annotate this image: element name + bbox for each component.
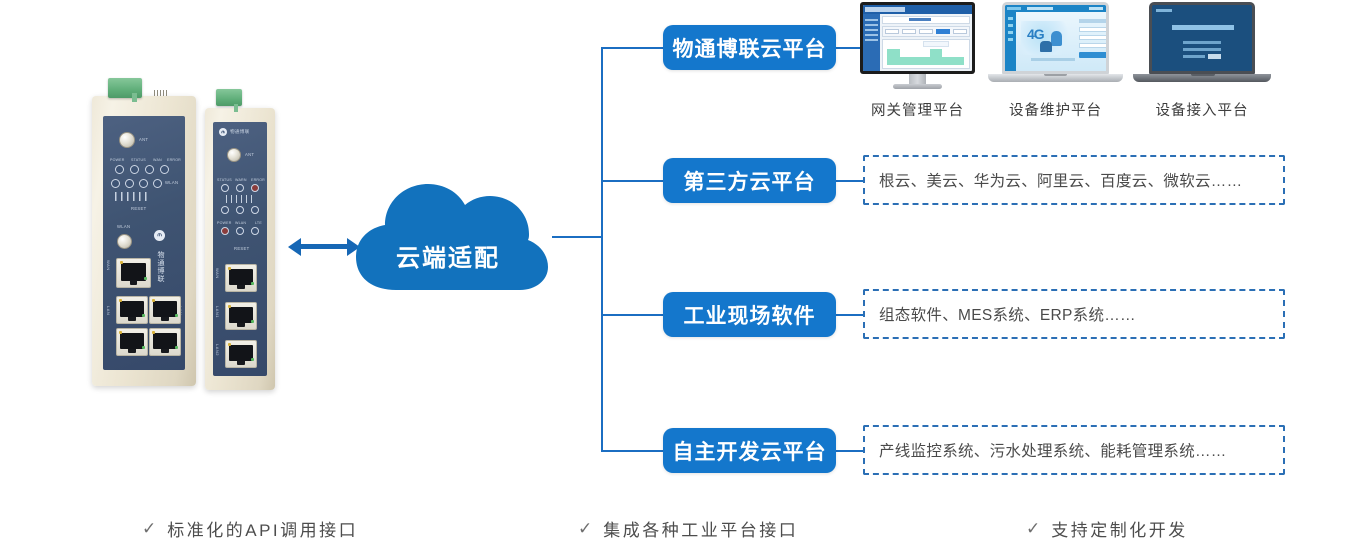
led-label-power: POWER [110, 158, 125, 162]
device-front-panel-small: ⫙ 物通博联 ANT STATUS WARN ERROR POWER WLAN … [213, 122, 267, 376]
port-label-lan-left: LAN [106, 306, 111, 346]
din-clip [154, 90, 168, 96]
line-branch-1 [601, 47, 664, 49]
line-branch-2 [601, 180, 664, 182]
rj45-port-lan2 [149, 296, 181, 324]
footer-item-3: ✓ 支持定制化开发 [1026, 516, 1188, 541]
rj45-port-lan3 [116, 328, 148, 356]
check-icon: ✓ [578, 520, 592, 537]
green-terminal-block-small [216, 89, 242, 106]
signal-bars-icon-small [226, 195, 252, 203]
laptop-screen-silver: 4G [1005, 5, 1106, 71]
check-icon: ✓ [1026, 520, 1040, 537]
laptop-screen-dark [1152, 5, 1252, 71]
led-label-status-small: STATUS [217, 178, 232, 182]
platform-mockup-device-maintenance: 4G [988, 2, 1123, 92]
monitor-neck [909, 74, 926, 84]
led-sig-c [251, 206, 259, 214]
monitor-base [893, 84, 942, 89]
led-label-wan: WAN [153, 158, 162, 162]
vlan-label: WLAN [117, 224, 130, 229]
wlan-antenna-connector-icon [117, 234, 132, 249]
led-error-small [251, 184, 259, 192]
rj45-port-wan-small [225, 264, 257, 292]
cloud-label: 云端适配 [396, 238, 500, 273]
cloud-shape-icon [352, 172, 552, 294]
port-label-lan2-small: LAN2 [215, 344, 220, 370]
line-hub-to-trunk [552, 236, 603, 238]
bidirectional-arrow-icon [288, 236, 360, 258]
led-warn-small [236, 184, 244, 192]
port-label-lan1-small: LAN1 [215, 306, 220, 332]
rj45-port-lan1-small [225, 302, 257, 330]
gateway-device-large: ANT POWER STATUS WAN ERROR WLAN RESET WL… [92, 96, 196, 386]
reset-label: RESET [131, 206, 146, 211]
footer-label-1: 标准化的API调用接口 [167, 516, 358, 541]
footer-label-3: 支持定制化开发 [1051, 516, 1188, 541]
laptop-silver-icon: 4G [1002, 2, 1109, 74]
line-trunk-vertical [601, 47, 603, 451]
branch-box-industrial-software[interactable]: 工业现场软件 [663, 292, 836, 337]
line-box2-to-detail [835, 180, 864, 182]
gateway-device-small: ⫙ 物通博联 ANT STATUS WARN ERROR POWER WLAN … [205, 108, 275, 390]
led-power [115, 165, 124, 174]
detail-box-third-party-cloud: 根云、美云、华为云、阿里云、百度云、微软云…… [863, 155, 1285, 205]
desktop-monitor-icon [860, 2, 975, 74]
check-icon: ✓ [142, 520, 156, 537]
reset-label-small: RESET [234, 246, 249, 251]
line-branch-4 [601, 450, 664, 452]
line-branch-3 [601, 314, 664, 316]
branch-box-third-party-cloud[interactable]: 第三方云平台 [663, 158, 836, 203]
platform-caption-gateway-management: 网关管理平台 [860, 99, 975, 120]
antenna-connector-icon-small [227, 148, 241, 162]
line-box3-to-detail [835, 314, 864, 316]
led-status-small [221, 184, 229, 192]
led-power-small [221, 227, 229, 235]
ant-label-small: ANT [245, 152, 254, 157]
cloud-adapter-node: 云端适配 [352, 172, 552, 294]
led-label-error-small: ERROR [251, 178, 265, 182]
led-sig-4 [153, 179, 162, 188]
led-sig-1 [111, 179, 120, 188]
led-label-power-small: POWER [217, 221, 232, 225]
port-label-wan: WAN [106, 260, 111, 290]
platform-mockup-device-access [1133, 2, 1271, 92]
led-sig-a [221, 206, 229, 214]
led-label-error: ERROR [167, 158, 181, 162]
wlan-led-label: WLAN [165, 180, 178, 185]
led-label-lte-small: LTE [255, 221, 262, 225]
platform-mockup-gateway-management [860, 2, 975, 92]
detail-box-industrial-software: 组态软件、MES系统、ERP系统…… [863, 289, 1285, 339]
led-status [130, 165, 139, 174]
footer-item-2: ✓ 集成各种工业平台接口 [578, 516, 798, 541]
device-front-panel: ANT POWER STATUS WAN ERROR WLAN RESET WL… [103, 116, 185, 370]
laptop-dark-icon [1149, 2, 1255, 74]
terminal-stem [132, 93, 137, 102]
led-sig-3 [139, 179, 148, 188]
led-label-warn-small: WARN [235, 178, 247, 182]
led-lte-small [251, 227, 259, 235]
rj45-port-wan [116, 258, 151, 288]
led-wan [145, 165, 154, 174]
ant-label: ANT [139, 137, 148, 142]
laptop-trackpad-notch [1044, 74, 1067, 76]
footer-label-2: 集成各种工业平台接口 [603, 516, 798, 541]
led-sig-b [236, 206, 244, 214]
monitor-screen [863, 5, 972, 71]
footer-item-1: ✓ 标准化的API调用接口 [142, 516, 358, 541]
branch-box-self-developed-cloud[interactable]: 自主开发云平台 [663, 428, 836, 473]
led-label-wlan-small: WLAN [235, 221, 246, 225]
brand-logo-icon-small: ⫙ [219, 128, 227, 136]
brand-name-small: 物通博联 [230, 129, 250, 135]
detail-box-self-developed-cloud: 产线监控系统、污水处理系统、能耗管理系统…… [863, 425, 1285, 475]
platform-caption-device-maintenance: 设备维护平台 [988, 99, 1123, 120]
led-error [160, 165, 169, 174]
platform-caption-device-access: 设备接入平台 [1133, 99, 1271, 120]
rj45-port-lan1 [116, 296, 148, 324]
signal-bars-icon [115, 192, 149, 201]
antenna-connector-icon [119, 132, 135, 148]
laptop-trackpad-notch-dark [1191, 74, 1215, 76]
led-sig-2 [125, 179, 134, 188]
line-box4-to-detail [835, 450, 864, 452]
brand-name-vertical: 物通博联 [154, 244, 165, 290]
terminal-stem-small [234, 104, 238, 112]
branch-box-wtbl-cloud[interactable]: 物通博联云平台 [663, 25, 836, 70]
line-box1-to-platforms [835, 47, 863, 49]
rj45-port-lan2-small [225, 340, 257, 368]
rj45-port-lan4 [149, 328, 181, 356]
led-wlan-small [236, 227, 244, 235]
brand-logo-icon: ⫙ [154, 230, 165, 241]
led-label-status: STATUS [131, 158, 146, 162]
port-label-wan-small: WAN [215, 268, 220, 294]
